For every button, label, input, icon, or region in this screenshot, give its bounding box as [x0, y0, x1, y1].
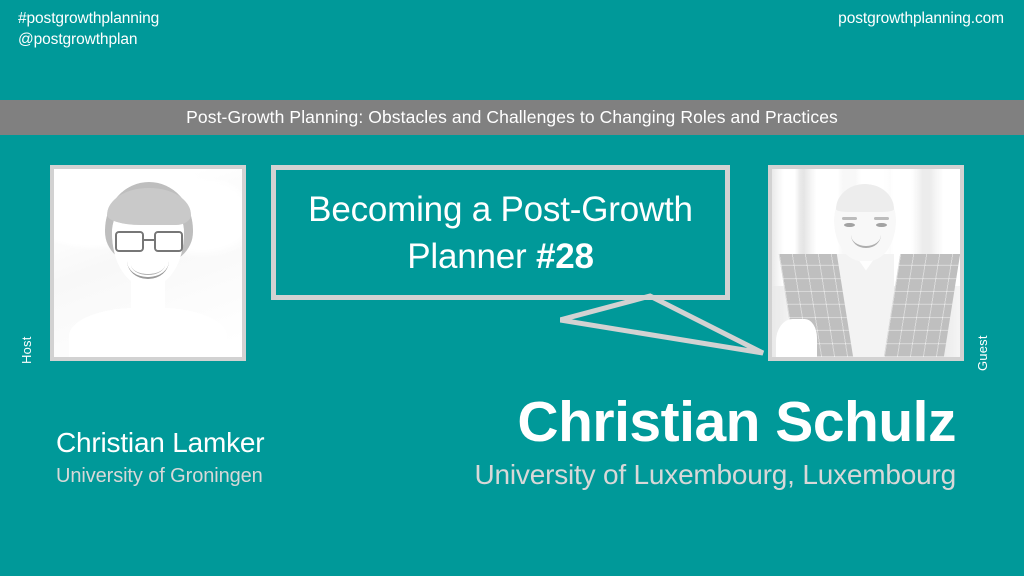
hashtag-text: #postgrowthplanning [18, 8, 159, 29]
host-photo-frame [50, 165, 246, 361]
guest-eye-right [876, 223, 886, 227]
series-banner: Post-Growth Planning: Obstacles and Chal… [0, 100, 1024, 135]
guest-affiliation: University of Luxembourg, Luxembourg [475, 455, 957, 495]
guest-portrait-image [772, 169, 960, 357]
episode-title-text: Becoming a Post-Growth Planner #28 [292, 186, 709, 280]
banner-title: Post-Growth Planning: Obstacles and Chal… [186, 107, 838, 128]
guest-eye-left [844, 223, 854, 227]
episode-title-line2-prefix: Planner [407, 237, 536, 276]
social-handles: #postgrowthplanning @postgrowthplan [18, 8, 159, 50]
guest-eyebrow-left [842, 217, 857, 220]
handle-text: @postgrowthplan [18, 29, 159, 50]
host-glasses-lens-left [115, 231, 144, 252]
host-name: Christian Lamker [56, 425, 264, 461]
host-glasses-bridge [144, 239, 153, 241]
guest-arm [776, 319, 817, 357]
host-portrait-image [54, 169, 242, 357]
host-glasses [115, 231, 183, 252]
host-affiliation: University of Groningen [56, 462, 263, 490]
presentation-slide: #postgrowthplanning @postgrowthplan post… [0, 0, 1024, 576]
host-shirt [69, 308, 227, 357]
host-role-label: Host [19, 336, 34, 364]
episode-title-line1: Becoming a Post-Growth [308, 190, 693, 229]
episode-number: #28 [536, 237, 594, 276]
guest-role-label: Guest [975, 335, 990, 371]
guest-name: Christian Schulz [517, 389, 956, 455]
episode-title-bubble: Becoming a Post-Growth Planner #28 [271, 165, 730, 300]
host-glasses-lens-right [154, 231, 183, 252]
guest-photo-frame [768, 165, 964, 361]
website-url: postgrowthplanning.com [838, 8, 1004, 29]
guest-eyebrow-right [874, 217, 889, 220]
